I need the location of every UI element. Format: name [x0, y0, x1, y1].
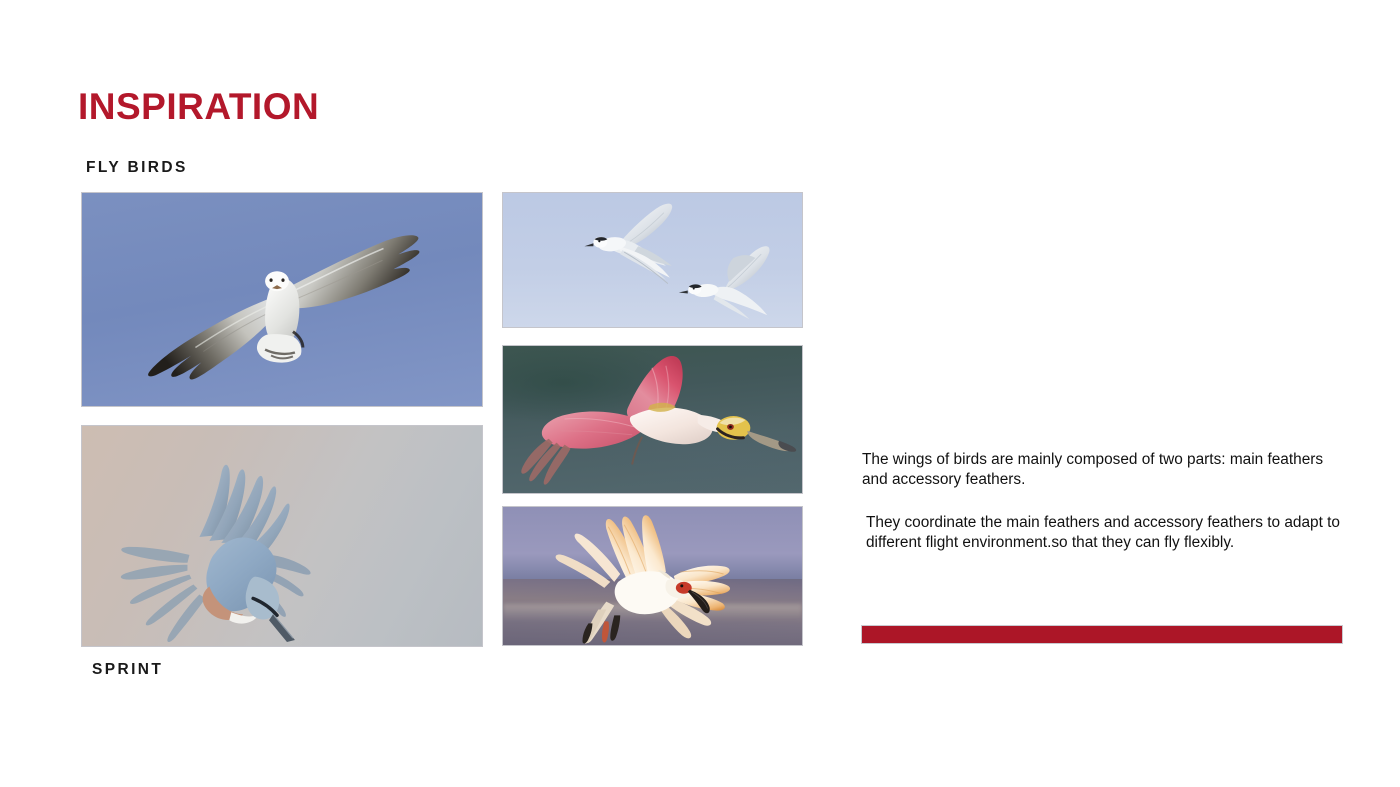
ibis-illustration — [503, 507, 802, 645]
spoonbill-illustration — [503, 346, 802, 493]
page-title: INSPIRATION — [78, 88, 319, 125]
description-paragraph-2: They coordinate the main feathers and ac… — [862, 513, 1342, 554]
red-accent-bar — [861, 625, 1343, 644]
terns-illustration — [503, 193, 802, 327]
image-crested-ibis — [502, 506, 803, 646]
tern-lower — [679, 246, 770, 319]
section-caption-fly-birds: FLY BIRDS — [86, 159, 188, 177]
image-two-terns — [502, 192, 803, 328]
section-caption-sprint: SPRINT — [92, 661, 163, 679]
image-nuthatch-diving — [81, 425, 483, 647]
slide-canvas: INSPIRATION FLY BIRDS SPRINT — [0, 0, 1400, 787]
nuthatch-illustration — [82, 426, 482, 646]
description-paragraph-1: The wings of birds are mainly composed o… — [862, 450, 1342, 491]
seagull-illustration — [82, 193, 482, 406]
tern-upper — [584, 204, 672, 284]
image-roseate-spoonbill — [502, 345, 803, 494]
description-text-block: The wings of birds are mainly composed o… — [862, 450, 1342, 554]
image-seagull-in-flight — [81, 192, 483, 407]
